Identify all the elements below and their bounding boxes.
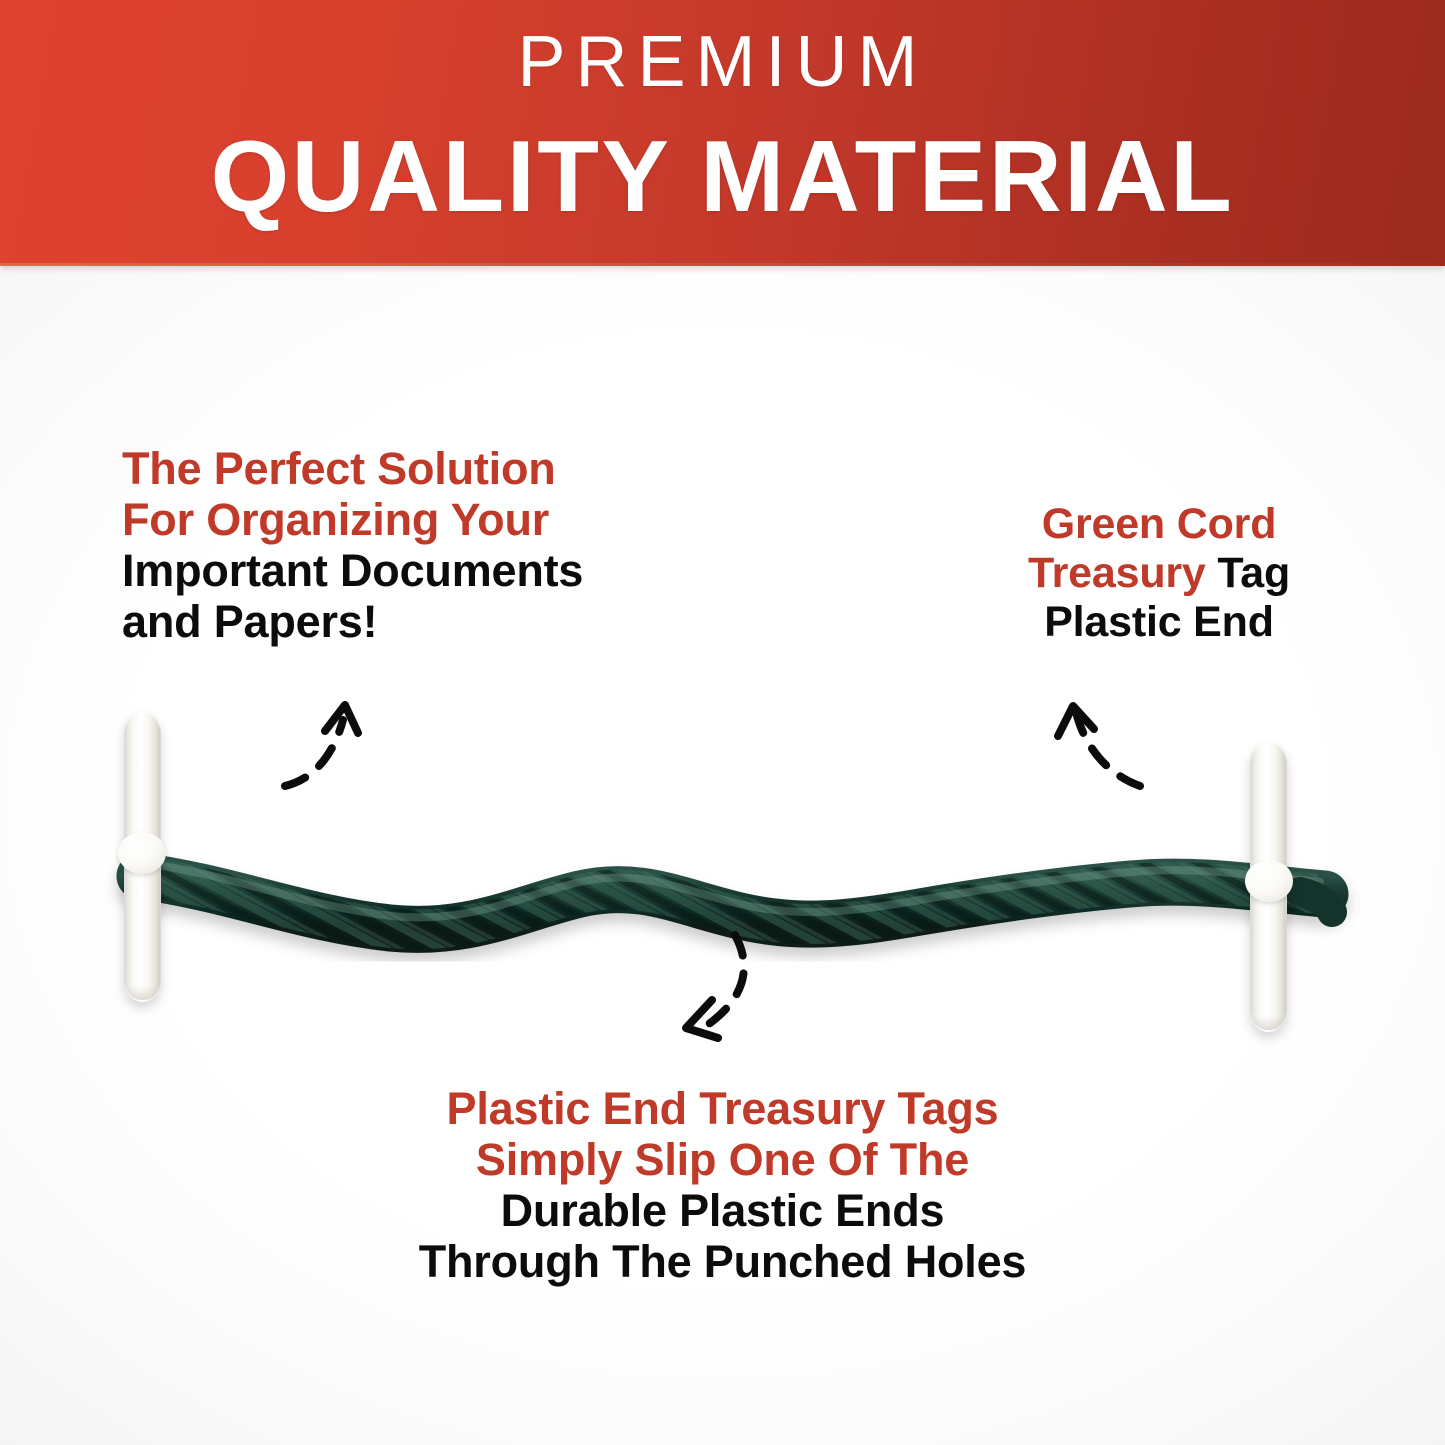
caption-right-line-2: Treasury Tag <box>944 549 1374 598</box>
caption-bottom-dark-line-1: Durable Plastic Ends <box>170 1185 1275 1236</box>
caption-left-dark-line-2: and Papers! <box>122 596 742 647</box>
banner-title-line-1: PREMIUM <box>0 26 1445 98</box>
caption-bottom: Plastic End Treasury Tags Simply Slip On… <box>170 1083 1275 1287</box>
caption-bottom-red-line-1: Plastic End Treasury Tags <box>170 1083 1275 1134</box>
infographic-canvas: PREMIUM QUALITY MATERIAL The Perfect Sol… <box>0 0 1445 1445</box>
caption-right: Green Cord Treasury Tag Plastic End <box>944 500 1374 646</box>
caption-right-red-line-2: Treasury <box>1028 549 1206 597</box>
caption-right-dark-line-2: Plastic End <box>944 598 1374 647</box>
right-cord-collar <box>1245 860 1293 902</box>
caption-left-dark-line-1: Important Documents <box>122 545 742 596</box>
product-image <box>0 660 1445 1060</box>
caption-right-red-line-1: Green Cord <box>1042 500 1277 548</box>
caption-left-red-line-1: The Perfect Solution <box>122 443 742 494</box>
caption-right-line-1: Green Cord <box>944 500 1374 549</box>
banner-title-line-2: QUALITY MATERIAL <box>0 127 1445 228</box>
caption-bottom-red-line-2: Simply Slip One Of The <box>170 1134 1275 1185</box>
caption-left: The Perfect Solution For Organizing Your… <box>122 443 742 647</box>
caption-left-red-line-2: For Organizing Your <box>122 494 742 545</box>
left-cord-collar <box>118 832 166 874</box>
caption-right-dark-inline: Tag <box>1206 549 1290 597</box>
caption-bottom-dark-line-2: Through The Punched Holes <box>170 1236 1275 1287</box>
green-cord <box>0 660 1445 1060</box>
header-banner: PREMIUM QUALITY MATERIAL <box>0 0 1445 266</box>
